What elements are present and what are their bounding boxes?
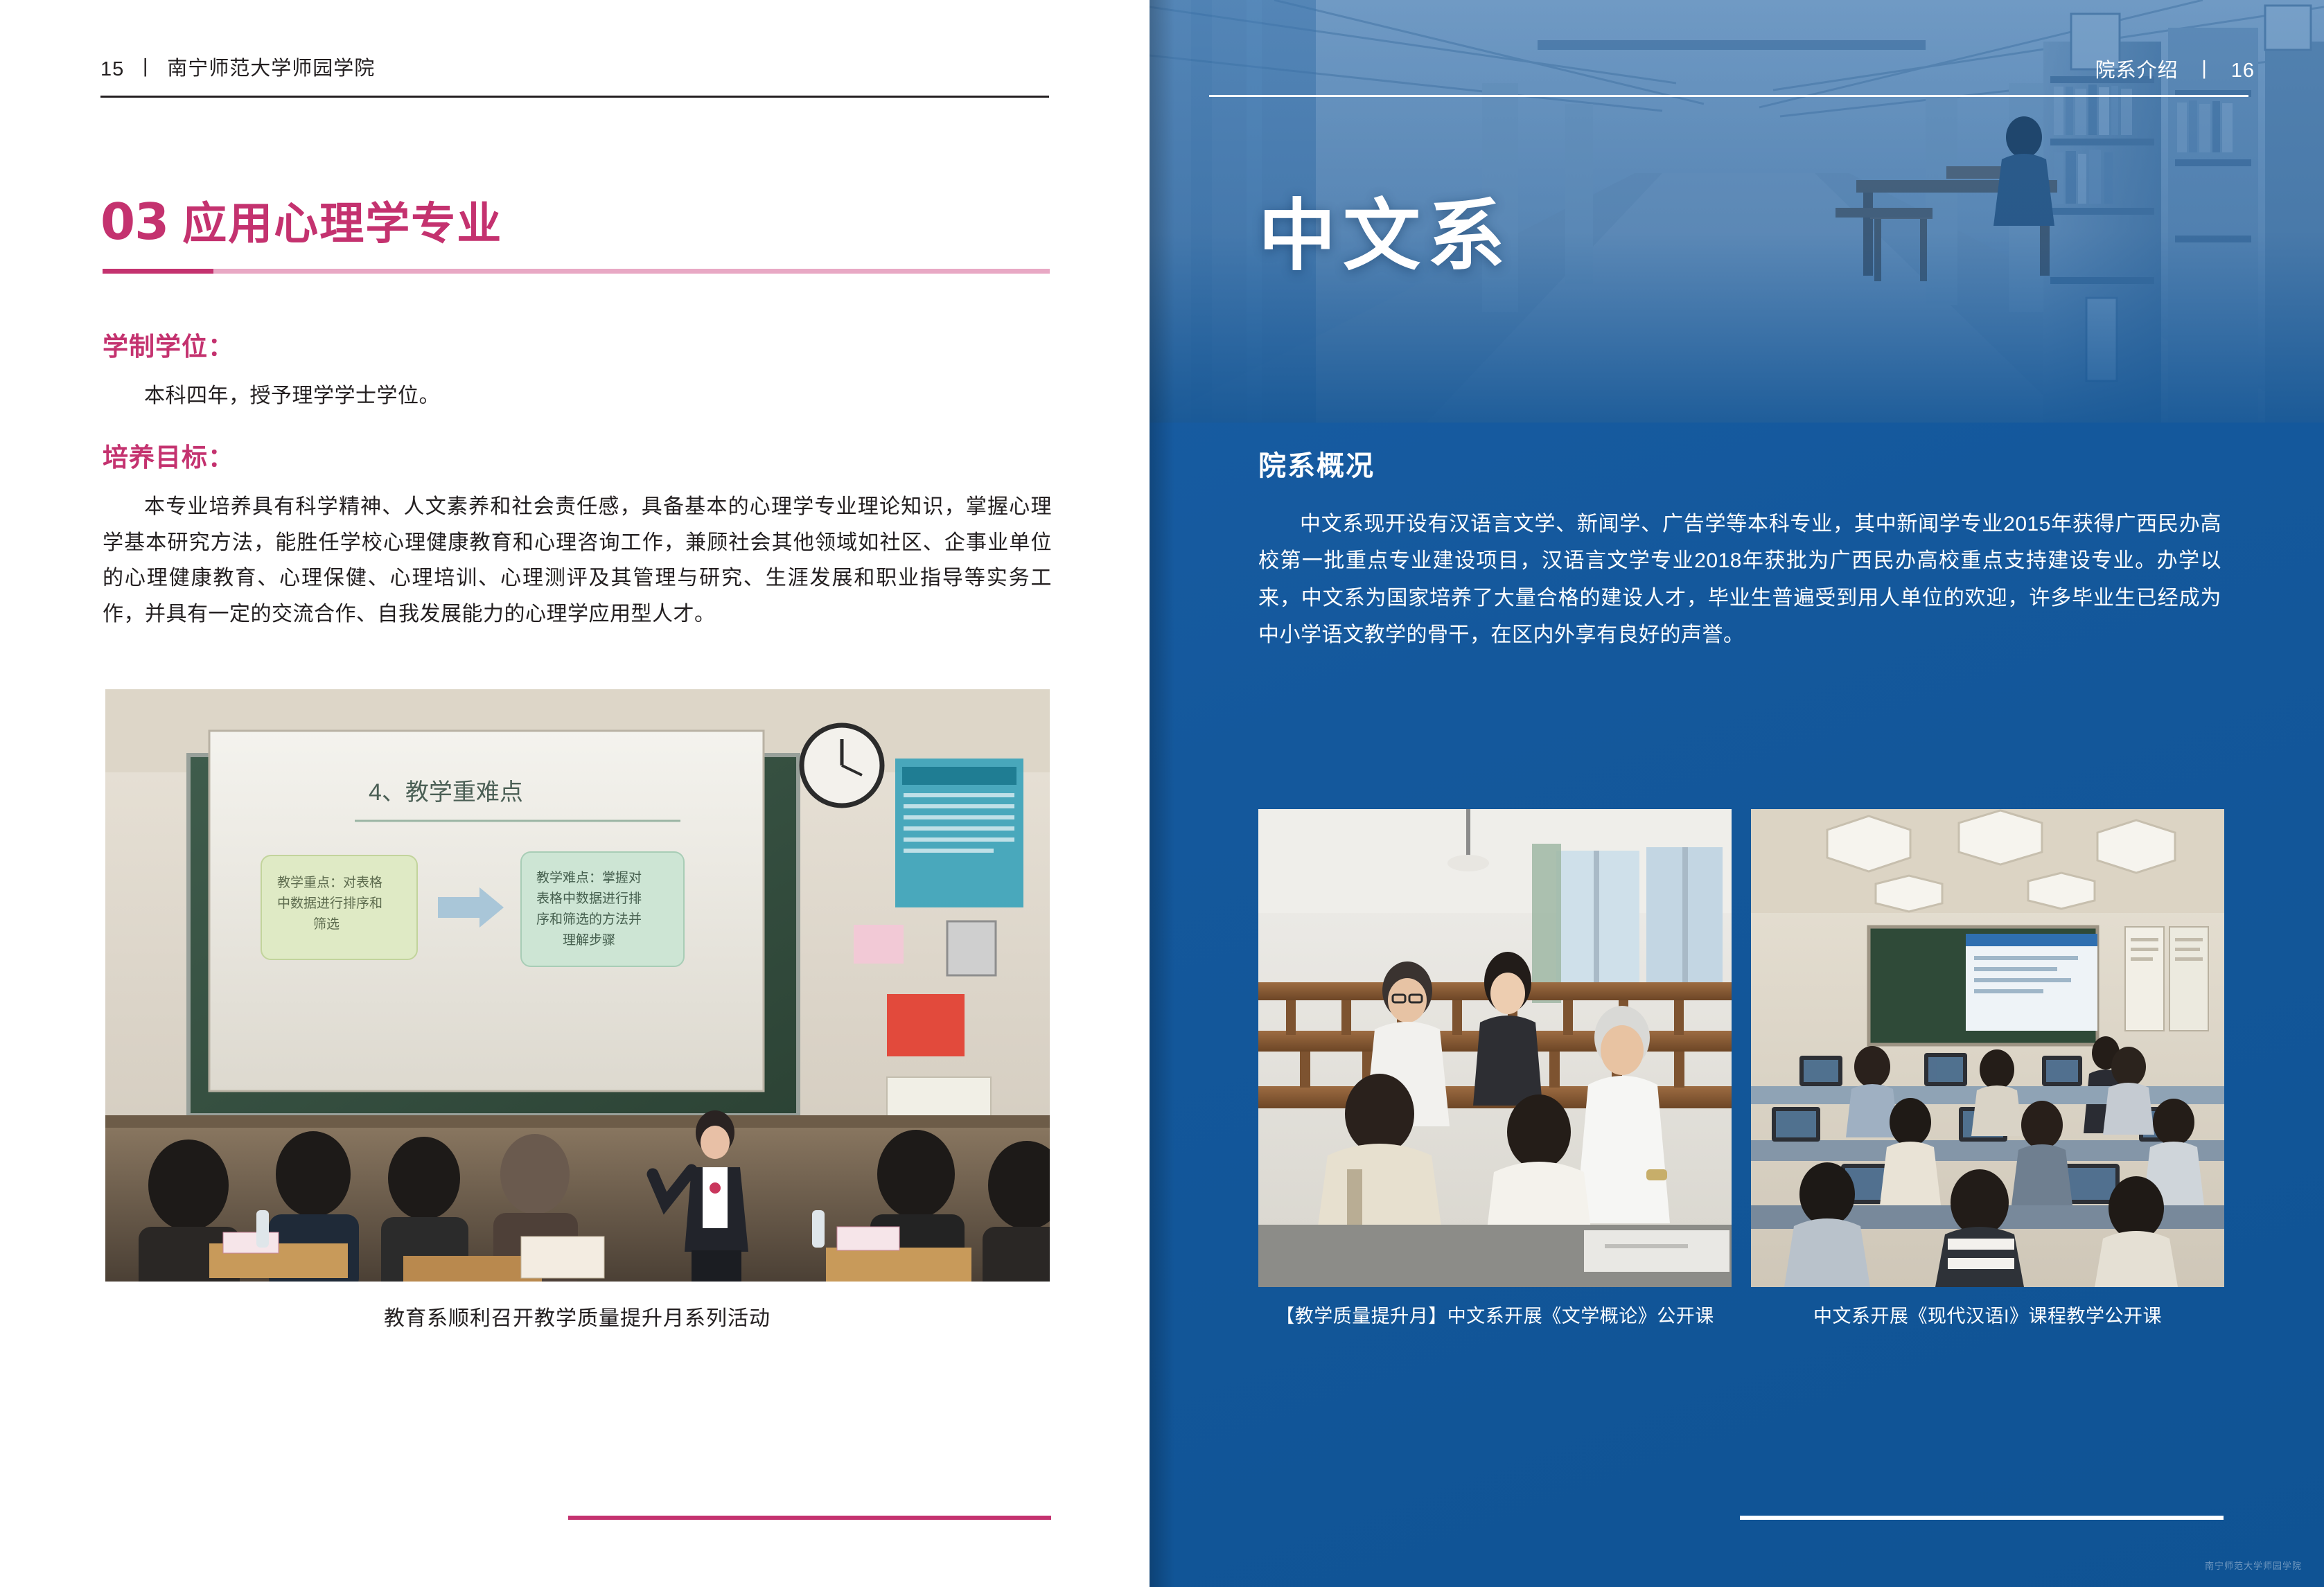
right-header-page-number: 16 (2231, 60, 2255, 82)
right-page: 院系介绍 丨 16 中文系 院系概况 中文系现开设有汉语言文学、新闻学、广告学等… (1150, 0, 2324, 1587)
right-page-header: 院系介绍 丨 16 (2095, 54, 2255, 83)
svg-text:教学重点：对表格: 教学重点：对表格 (277, 875, 382, 890)
section-objectives-body: 本专业培养具有科学精神、人文素养和社会责任感，具备基本的心理学专业理论知识，掌握… (103, 489, 1052, 632)
left-header-institution: 南宁师范大学师园学院 (167, 52, 375, 81)
left-header-separator: 丨 (135, 52, 156, 81)
right-photo-caption-2: 中文系开展《现代汉语I》课程教学公开课 (1751, 1301, 2224, 1328)
overview-heading: 院系概况 (1258, 443, 1375, 484)
right-photo-captions: 【教学质量提升月】中文系开展《文学概论》公开课 中文系开展《现代汉语I》课程教学… (1258, 1301, 2225, 1328)
section-degree: 学制学位： 本科四年，授予理学学士学位。 (103, 326, 1052, 414)
left-footer-rule (568, 1516, 1051, 1520)
title-underline-accent (103, 269, 213, 274)
overview-body: 中文系现开设有汉语言文学、新闻学、广告学等本科专业，其中新闻学专业2015年获得… (1258, 506, 2221, 654)
title-underline (103, 269, 1050, 274)
left-page-header: 15 丨 南宁师范大学师园学院 (100, 52, 1050, 81)
page-spread: 15 丨 南宁师范大学师园学院 03 应用心理学专业 学制学位： 本科四年，授予… (0, 0, 2324, 1587)
left-header-page-number: 15 (100, 58, 124, 81)
svg-text:4、教学重难点: 4、教学重难点 (369, 779, 523, 806)
right-header-divider (1209, 95, 2248, 97)
svg-text:理解步骤: 理解步骤 (563, 932, 615, 948)
left-page-photo: 4、教学重难点 教学重点：对表格 中数据进行排序和 筛选 教学难点：掌握对 表格… (105, 689, 1050, 1282)
right-footer-rule (1740, 1516, 2224, 1520)
right-header-separator: 丨 (2194, 60, 2215, 82)
page-title: 03 应用心理学专业 (100, 188, 502, 252)
right-photo-caption-1: 【教学质量提升月】中文系开展《文学概论》公开课 (1258, 1301, 1732, 1328)
section-degree-body: 本科四年，授予理学学士学位。 (103, 378, 1052, 414)
right-photo-2 (1751, 809, 2224, 1287)
computer-lab-illustration (1751, 809, 2224, 1287)
left-photo-caption: 教育系顺利召开教学质量提升月系列活动 (103, 1301, 1052, 1331)
left-header-divider (100, 96, 1049, 98)
section-objectives-heading: 培养目标： (103, 436, 1052, 474)
page-title-text: 应用心理学专业 (182, 188, 502, 252)
section-degree-heading: 学制学位： (103, 326, 1052, 363)
watermark: 南宁师范大学师园学院 (2205, 1559, 2302, 1572)
right-photo-gallery (1258, 809, 2225, 1287)
svg-text:表格中数据进行排: 表格中数据进行排 (536, 891, 642, 906)
classroom-photo-illustration: 4、教学重难点 教学重点：对表格 中数据进行排序和 筛选 教学难点：掌握对 表格… (105, 689, 1050, 1282)
svg-text:中数据进行排序和: 中数据进行排序和 (277, 896, 382, 911)
right-photo-1 (1258, 809, 1732, 1287)
left-page: 15 丨 南宁师范大学师园学院 03 应用心理学专业 学制学位： 本科四年，授予… (0, 0, 1150, 1587)
page-title-number: 03 (100, 193, 168, 251)
right-header-section: 院系介绍 (2095, 60, 2178, 82)
svg-text:教学难点：掌握对: 教学难点：掌握对 (536, 870, 642, 885)
svg-text:序和筛选的方法并: 序和筛选的方法并 (536, 912, 642, 927)
section-objectives: 培养目标： 本专业培养具有科学精神、人文素养和社会责任感，具备基本的心理学专业理… (103, 436, 1052, 632)
lecture-discussion-illustration (1258, 809, 1732, 1287)
svg-text:筛选: 筛选 (313, 916, 340, 932)
department-title: 中文系 (1258, 173, 1512, 285)
